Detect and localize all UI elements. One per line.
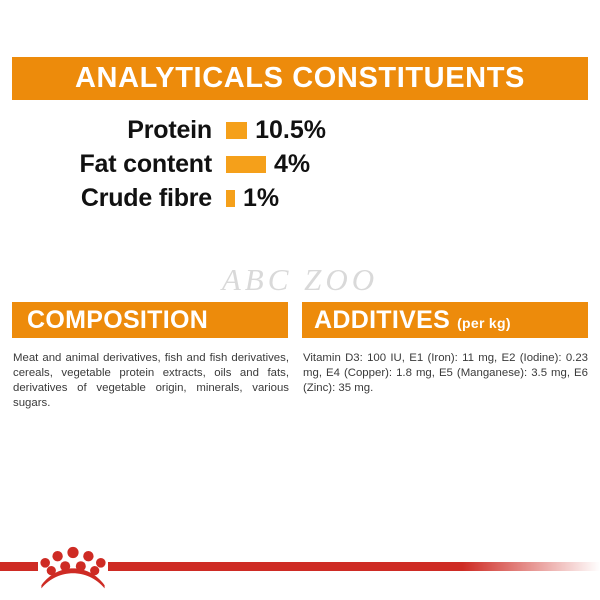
additives-heading-label: ADDITIVES [314, 308, 450, 333]
composition-body-text: Meat and animal derivatives, fish and fi… [13, 351, 289, 411]
analytics-row-bar [226, 122, 247, 139]
analytics-row-bar [226, 156, 266, 173]
additives-heading: ADDITIVES (per kg) [302, 302, 588, 338]
analytics-row-bar-track: 10.5% [226, 116, 326, 145]
analyticals-constituents-heading: ANALYTICALS CONSTITUENTS [12, 57, 588, 100]
composition-heading-label: COMPOSITION [27, 308, 208, 333]
analytics-row-bar-track: 1% [226, 184, 326, 213]
watermark-text: ABC ZOO [0, 262, 600, 298]
footer-rule-left [0, 562, 38, 571]
analytics-row-value: 10.5% [255, 116, 326, 145]
analytics-row-label: Protein [0, 116, 212, 145]
crown-logo-icon [38, 542, 108, 590]
composition-heading: COMPOSITION [12, 302, 288, 338]
analytics-row-fat-content: Fat content 4% [0, 147, 600, 181]
analytics-row-bar [226, 190, 235, 207]
brand-footer [0, 530, 600, 600]
additives-heading-unit: (per kg) [457, 316, 511, 330]
analyticals-constituents-heading-label: ANALYTICALS CONSTITUENTS [75, 62, 525, 95]
analytics-row-label: Crude fibre [0, 184, 212, 213]
analytics-row-label: Fat content [0, 150, 212, 179]
analytics-row-value: 1% [243, 184, 279, 213]
analytics-row-protein: Protein 10.5% [0, 113, 600, 147]
analytics-row-crude-fibre: Crude fibre 1% [0, 181, 600, 215]
footer-rule-right [108, 562, 600, 571]
analytics-row-bar-track: 4% [226, 150, 326, 179]
additives-body-text: Vitamin D3: 100 IU, E1 (Iron): 11 mg, E2… [303, 351, 588, 396]
analytics-row-value: 4% [274, 150, 310, 179]
analyticals-constituents-list: Protein 10.5% Fat content 4% Crude fibre… [0, 113, 600, 215]
